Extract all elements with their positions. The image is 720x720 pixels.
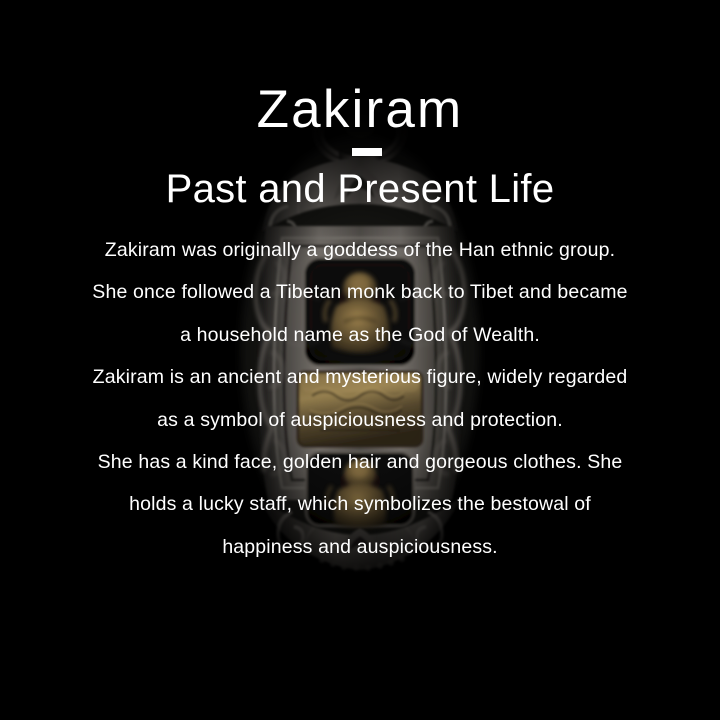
description-line: Zakiram is an ancient and mysterious fig… (40, 356, 680, 398)
page-subtitle: Past and Present Life (0, 166, 720, 212)
text-layer: Zakiram Past and Present Life Zakiram wa… (0, 0, 720, 720)
description-line: holds a lucky staff, which symbolizes th… (40, 483, 680, 525)
title-divider (352, 148, 382, 156)
description-line: Zakiram was originally a goddess of the … (40, 229, 680, 271)
description-line: a household name as the God of Wealth. (40, 314, 680, 356)
description-line: happiness and auspiciousness. (40, 526, 680, 568)
description-block: Zakiram was originally a goddess of the … (40, 229, 680, 568)
description-line: She once followed a Tibetan monk back to… (40, 271, 680, 313)
poster-canvas: Zakiram Past and Present Life Zakiram wa… (0, 0, 720, 720)
page-title: Zakiram (0, 80, 720, 140)
description-line: She has a kind face, golden hair and gor… (40, 441, 680, 483)
description-line: as a symbol of auspiciousness and protec… (40, 399, 680, 441)
